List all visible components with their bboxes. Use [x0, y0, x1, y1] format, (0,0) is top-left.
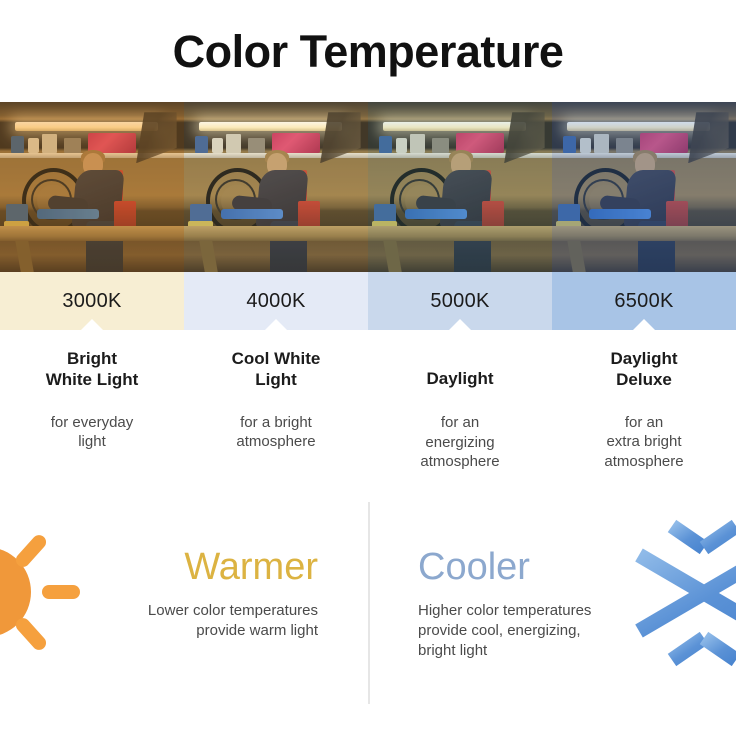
- photo-strip: [0, 102, 736, 272]
- cooler-body: Higher color temperatures provide cool, …: [418, 601, 668, 660]
- description-title-6500k: Daylight Deluxe: [610, 348, 677, 391]
- kelvin-band: 3000K 4000K 5000K 6500K: [0, 272, 736, 330]
- tint-overlay: [184, 102, 368, 272]
- warm-cool-section: Warmer Lower color temperatures provide …: [0, 498, 736, 708]
- title-line-2: Light: [255, 370, 297, 389]
- sub-line-1: for a bright: [240, 414, 312, 431]
- warmer-body-line-1: Lower color temperatures: [148, 602, 318, 619]
- infographic-page: Color Temperature: [0, 0, 736, 736]
- description-title-3000k: Bright White Light: [46, 348, 139, 391]
- sub-line-2: extra bright: [606, 433, 681, 450]
- kelvin-cell-5000k: 5000K: [368, 272, 552, 330]
- cooler-body-line-3: bright light: [418, 642, 487, 659]
- description-sub-3000k: for everyday light: [51, 413, 134, 452]
- photo-cell-3000k: [0, 102, 184, 272]
- sub-line-1: for an: [441, 414, 479, 431]
- title-line-1: Bright: [67, 349, 117, 368]
- description-cell-3000k: Bright White Light for everyday light: [0, 340, 184, 490]
- kelvin-notch: [81, 319, 103, 330]
- description-row: Bright White Light for everyday light Co…: [0, 340, 736, 490]
- warmer-body: Lower color temperatures provide warm li…: [78, 601, 318, 641]
- kelvin-cell-4000k: 4000K: [184, 272, 368, 330]
- sub-line-3: atmosphere: [604, 453, 683, 470]
- sub-line-1: for an: [625, 414, 663, 431]
- title-line-1: Daylight: [426, 369, 493, 388]
- description-cell-6500k: Daylight Deluxe for an extra bright atmo…: [552, 340, 736, 490]
- title-bar: Color Temperature: [0, 0, 736, 102]
- kelvin-notch: [633, 319, 655, 330]
- photo-cell-4000k: [184, 102, 368, 272]
- description-title-5000k: Daylight: [426, 348, 493, 389]
- kelvin-label-5000k: 5000K: [430, 290, 489, 313]
- warmer-body-line-2: provide warm light: [196, 622, 318, 639]
- description-title-4000k: Cool White Light: [232, 348, 321, 391]
- kelvin-label-6500k: 6500K: [614, 290, 673, 313]
- cooler-body-line-1: Higher color temperatures: [418, 602, 591, 619]
- tint-overlay-warm: [0, 102, 184, 272]
- title-line-2: Deluxe: [616, 370, 672, 389]
- cooler-body-line-2: provide cool, energizing,: [418, 622, 581, 639]
- sub-line-2: atmosphere: [236, 433, 315, 450]
- kelvin-notch: [449, 319, 471, 330]
- sub-line-2: energizing: [425, 434, 494, 451]
- kelvin-cell-6500k: 6500K: [552, 272, 736, 330]
- sub-line-3: atmosphere: [420, 453, 499, 470]
- title-line-1: Daylight: [610, 349, 677, 368]
- sub-line-2: light: [78, 433, 106, 450]
- kelvin-label-3000k: 3000K: [62, 290, 121, 313]
- tint-overlay: [368, 102, 552, 272]
- description-cell-4000k: Cool White Light for a bright atmosphere: [184, 340, 368, 490]
- warmer-panel: Warmer Lower color temperatures provide …: [0, 498, 368, 708]
- description-sub-5000k: for an energizing atmosphere: [420, 413, 499, 472]
- sun-icon: [0, 500, 88, 685]
- sub-line-1: for everyday: [51, 414, 134, 431]
- snowflake-icon: [634, 498, 736, 688]
- kelvin-label-4000k: 4000K: [246, 290, 305, 313]
- description-sub-6500k: for an extra bright atmosphere: [604, 413, 683, 472]
- kelvin-cell-3000k: 3000K: [0, 272, 184, 330]
- cooler-label: Cooler: [418, 548, 530, 586]
- page-title: Color Temperature: [173, 29, 564, 74]
- kelvin-notch: [265, 319, 287, 330]
- description-cell-5000k: Daylight for an energizing atmosphere: [368, 340, 552, 490]
- title-line-2: White Light: [46, 370, 139, 389]
- warmer-label: Warmer: [184, 548, 318, 586]
- description-sub-4000k: for a bright atmosphere: [236, 413, 315, 452]
- tint-overlay: [552, 102, 736, 272]
- photo-cell-5000k: [368, 102, 552, 272]
- photo-cell-6500k: [552, 102, 736, 272]
- cooler-panel: Cooler Higher color temperatures provide…: [368, 498, 736, 708]
- title-line-1: Cool White: [232, 349, 321, 368]
